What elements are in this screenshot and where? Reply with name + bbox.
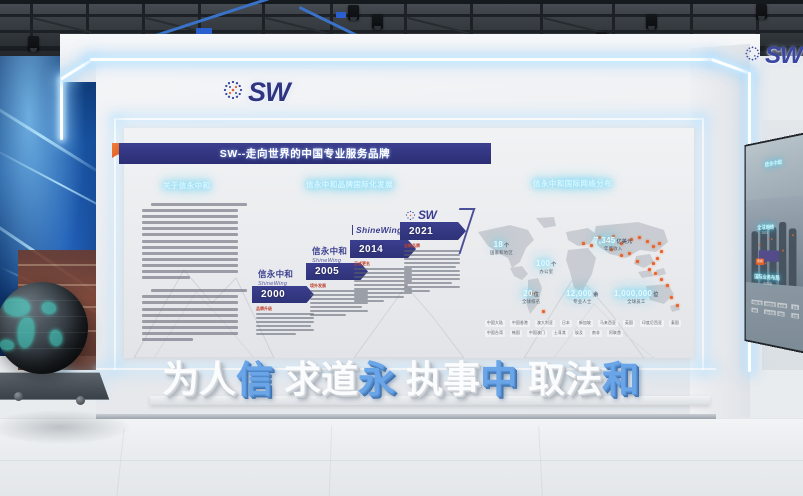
slogan-char: 道 — [321, 361, 358, 398]
slogan-char: 人 — [199, 361, 236, 398]
truss-beam — [0, 0, 803, 4]
slogan-char-highlight: 中 — [480, 361, 517, 398]
region-tag-list: 中国大陆中国香港澳大利亚日本新加坡马来西亚英国印度尼西亚泰国中国台湾韩国中国澳门… — [485, 320, 685, 337]
map-marker — [676, 304, 679, 307]
region-tag: 英国 — [623, 320, 635, 327]
slogan-char: 执 — [406, 361, 443, 398]
pedestal-caster — [14, 392, 23, 401]
text-line — [142, 270, 238, 273]
region-tag: 中国大陆 — [485, 320, 505, 327]
screen-region-tag: 新加坡 — [777, 302, 787, 308]
neon-strip — [116, 118, 702, 120]
map-marker — [582, 242, 585, 245]
map-stat-label: 专业人士 — [566, 299, 599, 305]
map-stat-6: 1,000,000位全球员工 — [614, 289, 659, 305]
about-body-text — [142, 203, 238, 344]
slogan-char-highlight: 信 — [236, 361, 273, 398]
region-tag: 阿联酋 — [607, 330, 623, 337]
region-tag: 中国香港 — [510, 320, 530, 327]
text-line — [142, 295, 238, 298]
text-line — [142, 258, 238, 261]
text-line — [142, 233, 238, 236]
sw-wordmark: SW — [248, 77, 290, 108]
sw-wordmark: SW — [765, 42, 802, 70]
screen-region-tag: 中国大陆 — [751, 299, 762, 305]
text-line — [142, 320, 238, 323]
globe-continent — [42, 302, 56, 314]
map-stat-label: 年度收入 — [594, 246, 632, 252]
screen-badge: 新闻 — [756, 258, 764, 265]
text-line — [142, 308, 238, 311]
region-tag: 埃及 — [573, 330, 585, 337]
map-stat-unit: 位 — [534, 292, 539, 298]
text-line — [142, 209, 238, 212]
map-stat-2: 100个办公室 — [536, 259, 557, 275]
text-line — [151, 203, 247, 206]
text-line — [142, 221, 238, 224]
slogan-char: 求 — [284, 361, 321, 398]
text-line — [142, 314, 238, 317]
region-tag: 中国澳门 — [527, 330, 547, 337]
screen-region-tag: 韩国 — [777, 311, 784, 317]
text-line — [142, 332, 238, 335]
led-streak — [0, 96, 96, 178]
region-tag: 日本 — [560, 320, 572, 327]
map-marker — [542, 310, 545, 313]
screen-region-tag: 泰国 — [791, 313, 799, 319]
map-marker — [656, 257, 659, 260]
milestone-note-2000: 品牌升级 — [256, 306, 316, 337]
globe-continent — [18, 318, 34, 348]
map-stat-unit: 位 — [653, 292, 658, 298]
sw-logo-right: SW — [744, 42, 802, 70]
sw-logo-top: SW — [222, 77, 290, 108]
region-tag: 印度尼西亚 — [640, 320, 664, 327]
region-tag: 马来西亚 — [598, 320, 618, 327]
text-line — [142, 246, 238, 249]
map-marker — [654, 272, 657, 275]
screen-region-tag: 英国 — [751, 307, 758, 312]
screen-region-tag: 中国香港 — [764, 301, 776, 307]
map-marker — [658, 242, 661, 245]
text-line — [142, 252, 238, 255]
map-stat-label: 全球员工 — [614, 299, 659, 305]
milestone-year-2005: 2005 — [306, 266, 339, 277]
map-stat-number: 7,345亿美元 — [594, 236, 632, 245]
slogan-char: 为 — [162, 361, 199, 398]
map-marker — [666, 284, 669, 287]
sw-wordmark: SW — [418, 208, 436, 222]
about-paragraph-1 — [142, 203, 238, 279]
led-streak — [0, 146, 96, 223]
slogan-group-2: 求道永 — [284, 361, 395, 398]
map-stat-unit: 个 — [551, 262, 556, 268]
slogan-char: 法 — [565, 361, 602, 398]
map-marker — [628, 252, 631, 255]
map-stat-unit: 余 — [593, 292, 598, 298]
wall-display-screen[interactable]: 信永中和 全球网络 2021 新闻 国际业务布局 2021年 中国大陆中国香港新… — [744, 132, 803, 354]
stage-light — [348, 5, 359, 20]
column-header-network: 信永中和国际网络分布 — [533, 178, 612, 189]
neon-strip-top — [90, 58, 714, 61]
map-marker — [660, 278, 663, 281]
map-stat-number: 20位 — [522, 289, 540, 298]
region-tag: 澳大利亚 — [535, 320, 555, 327]
text-line — [142, 276, 190, 279]
map-marker — [638, 236, 641, 239]
slogan-char-highlight: 和 — [602, 361, 639, 398]
map-stat-4: 20位全球排名 — [522, 289, 540, 305]
region-tag: 土耳其 — [552, 330, 568, 337]
text-line — [142, 240, 238, 243]
panel-banner: SW--走向世界的中国专业服务品牌 — [119, 143, 491, 164]
globe-sculpture — [0, 282, 88, 374]
milestone-brand-2005: 信永中和 ShineWing — [312, 245, 347, 264]
slogan-group-3: 执事中 — [406, 361, 517, 398]
map-stat-unit: 个 — [504, 243, 509, 249]
region-tag: 中国台湾 — [485, 330, 505, 337]
sw-dot-emblem-icon — [222, 79, 244, 106]
text-line — [142, 264, 238, 267]
text-line — [142, 326, 238, 329]
slogan-wall-text: 为人信求道永执事中取法和 — [162, 355, 692, 403]
milestone-brand-2021: SW — [405, 208, 436, 222]
truss-beam — [0, 14, 803, 17]
globe-continent — [4, 298, 30, 316]
map-marker — [660, 250, 663, 253]
truss-beam — [0, 30, 803, 33]
screen-headline: 信永中和 — [765, 158, 782, 168]
text-line — [142, 227, 238, 230]
map-marker — [646, 240, 649, 243]
slogan-group-4: 取法和 — [528, 361, 639, 398]
map-stat-5: 12,000余专业人士 — [566, 289, 599, 305]
slogan-char-highlight: 永 — [358, 361, 395, 398]
slogan-group-1: 为人信 — [162, 361, 273, 398]
map-marker — [648, 268, 651, 271]
screen-region-tag: 日本 — [791, 304, 799, 310]
stage-light — [646, 14, 657, 29]
column-header-about: 关于信永中和 — [163, 180, 210, 191]
milestone-brand-2014: ShineWing — [352, 225, 407, 235]
region-tag: 韩国 — [510, 330, 522, 337]
stage-light — [756, 4, 767, 19]
about-paragraph-2 — [142, 289, 238, 341]
map-stat-1: 18个国家和地区 — [490, 240, 513, 256]
map-stat-number: 1,000,000位 — [614, 289, 659, 298]
milestone-brand-2000: 信永中和 ShineWing — [258, 268, 293, 287]
map-stat-label: 全球排名 — [522, 299, 540, 305]
milestone-year-2014: 2014 — [350, 244, 383, 255]
booth-floor — [0, 418, 803, 496]
neon-strip — [60, 80, 63, 140]
stage-light — [372, 14, 383, 29]
globe-continent — [50, 330, 62, 346]
slogan-char: 取 — [528, 361, 565, 398]
screen-mid-sub: 2021 — [762, 231, 768, 235]
map-marker — [620, 254, 623, 257]
text-line — [142, 215, 238, 218]
map-stat-unit: 亿美元 — [617, 239, 633, 245]
text-line — [142, 301, 238, 304]
banner-title: SW--走向世界的中国专业服务品牌 — [220, 146, 390, 161]
map-stat-label: 国家和地区 — [490, 250, 513, 256]
pedestal-caster — [76, 396, 85, 405]
region-tag: 泰国 — [669, 320, 681, 327]
region-tag: 新加坡 — [577, 320, 593, 327]
map-marker — [590, 244, 593, 247]
milestone-year-2021: 2021 — [400, 226, 433, 237]
map-stat-number: 12,000余 — [566, 289, 599, 298]
milestone-year-2000: 2000 — [252, 289, 285, 300]
map-stat-number: 18个 — [490, 240, 513, 249]
column-header-timeline: 信永中和品牌国际化发展 — [306, 179, 393, 190]
map-stat-label: 办公室 — [536, 269, 557, 275]
exhibition-booth-photo: SW SW — [0, 0, 803, 496]
sw-dot-emblem-icon — [405, 210, 416, 221]
text-line — [151, 289, 247, 292]
map-marker — [670, 296, 673, 299]
screen-region-tag: 澳大利亚 — [764, 309, 776, 315]
map-marker — [652, 262, 655, 265]
map-marker — [636, 260, 639, 263]
map-stat-number: 100个 — [536, 259, 557, 268]
text-line — [142, 338, 193, 341]
slogan-char: 事 — [443, 361, 480, 398]
blue-light-fixture — [336, 12, 346, 18]
stage-light — [28, 36, 39, 51]
neon-strip — [702, 118, 704, 370]
sw-dot-emblem-icon — [744, 45, 761, 67]
globe-continent — [0, 340, 14, 350]
wall-baseboard — [96, 414, 716, 419]
map-stat-3: 7,345亿美元年度收入 — [594, 236, 632, 252]
region-tag: 南非 — [590, 330, 602, 337]
map-marker — [652, 245, 655, 248]
screen-bottom-sub: 2021年 — [763, 282, 772, 287]
booth-right-wall — [690, 44, 750, 428]
milestone-chevron-2000: 2000 — [252, 286, 314, 303]
